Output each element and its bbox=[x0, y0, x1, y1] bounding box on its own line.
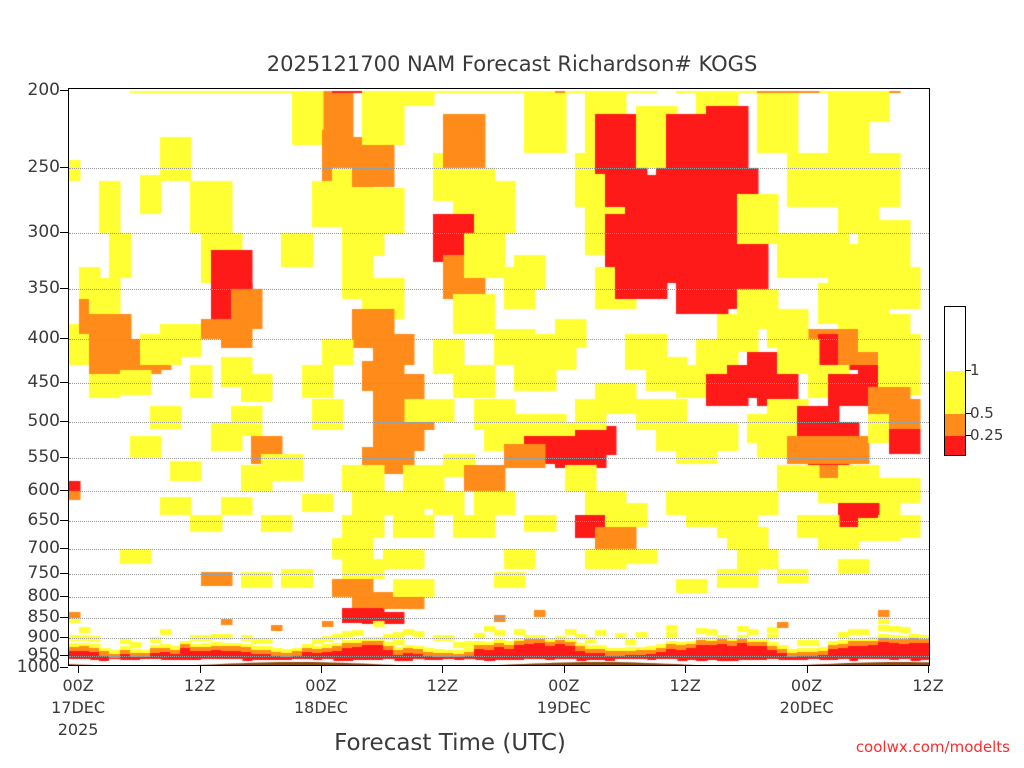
y-tick-label: 450 bbox=[28, 372, 60, 392]
gridline bbox=[69, 618, 929, 620]
chart-root: 2025121700 NAM Forecast Richardson# KOGS… bbox=[0, 0, 1024, 768]
gridline bbox=[69, 521, 929, 523]
plot-area bbox=[68, 88, 930, 666]
x-tick-mark bbox=[200, 666, 201, 673]
colorbar-tick bbox=[966, 435, 971, 436]
y-tick-label: 500 bbox=[28, 411, 60, 431]
y-tick-label: 350 bbox=[28, 278, 60, 298]
gridline bbox=[69, 549, 929, 551]
gridline bbox=[69, 638, 929, 640]
x-tick-label: 12Z bbox=[184, 676, 215, 695]
colorbar-label: 1 bbox=[970, 361, 980, 379]
gridline bbox=[69, 289, 929, 291]
x-tick-date-label: 19DEC bbox=[537, 698, 591, 717]
colorbar-segment bbox=[945, 414, 965, 435]
y-tick-mark bbox=[60, 490, 68, 491]
x-tick-mark bbox=[78, 666, 79, 673]
colorbar-segment bbox=[945, 436, 965, 456]
y-tick-mark bbox=[60, 655, 68, 656]
y-tick-mark bbox=[60, 288, 68, 289]
y-tick-mark bbox=[60, 457, 68, 458]
x-axis-label: Forecast Time (UTC) bbox=[0, 730, 900, 756]
y-tick-mark bbox=[60, 232, 68, 233]
colorbar bbox=[944, 306, 966, 456]
gridline bbox=[69, 339, 929, 341]
colorbar-tick bbox=[966, 413, 971, 414]
gridline bbox=[69, 383, 929, 385]
gridline bbox=[69, 597, 929, 599]
x-tick-mark bbox=[442, 666, 443, 673]
y-tick-label: 800 bbox=[28, 586, 60, 606]
colorbar-segment bbox=[945, 307, 965, 371]
credit-link[interactable]: coolwx.com/modelts bbox=[856, 738, 1010, 756]
y-tick-mark bbox=[60, 548, 68, 549]
gridline bbox=[69, 491, 929, 493]
x-tick-mark bbox=[928, 666, 929, 673]
y-tick-mark bbox=[60, 596, 68, 597]
gridline bbox=[69, 574, 929, 576]
x-tick-date-label: 20DEC bbox=[780, 698, 834, 717]
x-tick-date-label: 18DEC bbox=[294, 698, 348, 717]
x-tick-mark bbox=[685, 666, 686, 673]
y-tick-label: 250 bbox=[28, 157, 60, 177]
y-tick-label: 700 bbox=[28, 538, 60, 558]
y-tick-label: 300 bbox=[28, 222, 60, 242]
x-tick-label: 00Z bbox=[305, 676, 336, 695]
chart-title: 2025121700 NAM Forecast Richardson# KOGS bbox=[0, 52, 1024, 76]
colorbar-label: 0.5 bbox=[970, 404, 994, 422]
y-tick-mark bbox=[60, 573, 68, 574]
x-tick-date-label: 17DEC bbox=[51, 698, 105, 717]
y-tick-mark bbox=[60, 667, 68, 668]
x-tick-label: 12Z bbox=[912, 676, 943, 695]
x-tick-mark bbox=[321, 666, 322, 673]
y-tick-mark bbox=[60, 90, 68, 91]
heatmap-canvas bbox=[69, 89, 929, 665]
colorbar-tick bbox=[966, 370, 971, 371]
y-tick-label: 1000 bbox=[17, 657, 60, 677]
colorbar-label: 0.25 bbox=[970, 426, 1003, 444]
x-tick-label: 00Z bbox=[791, 676, 822, 695]
x-tick-mark bbox=[564, 666, 565, 673]
y-tick-label: 200 bbox=[28, 80, 60, 100]
gridline bbox=[69, 422, 929, 424]
y-tick-label: 900 bbox=[28, 627, 60, 647]
gridline bbox=[69, 458, 929, 460]
x-tick-label: 12Z bbox=[427, 676, 458, 695]
y-tick-mark bbox=[60, 520, 68, 521]
y-tick-mark bbox=[60, 338, 68, 339]
x-tick-label: 12Z bbox=[670, 676, 701, 695]
colorbar-segment bbox=[945, 371, 965, 414]
gridline bbox=[69, 656, 929, 658]
y-tick-label: 600 bbox=[28, 480, 60, 500]
x-tick-label: 00Z bbox=[62, 676, 93, 695]
y-tick-mark bbox=[60, 167, 68, 168]
y-tick-mark bbox=[60, 617, 68, 618]
y-tick-label: 750 bbox=[28, 563, 60, 583]
x-tick-mark bbox=[807, 666, 808, 673]
gridline bbox=[69, 233, 929, 235]
y-tick-mark bbox=[60, 382, 68, 383]
y-tick-mark bbox=[60, 421, 68, 422]
y-tick-label: 850 bbox=[28, 607, 60, 627]
y-tick-mark bbox=[60, 637, 68, 638]
gridline bbox=[69, 168, 929, 170]
x-tick-label: 00Z bbox=[548, 676, 579, 695]
y-tick-label: 400 bbox=[28, 328, 60, 348]
y-tick-label: 550 bbox=[28, 447, 60, 467]
y-tick-label: 650 bbox=[28, 510, 60, 530]
